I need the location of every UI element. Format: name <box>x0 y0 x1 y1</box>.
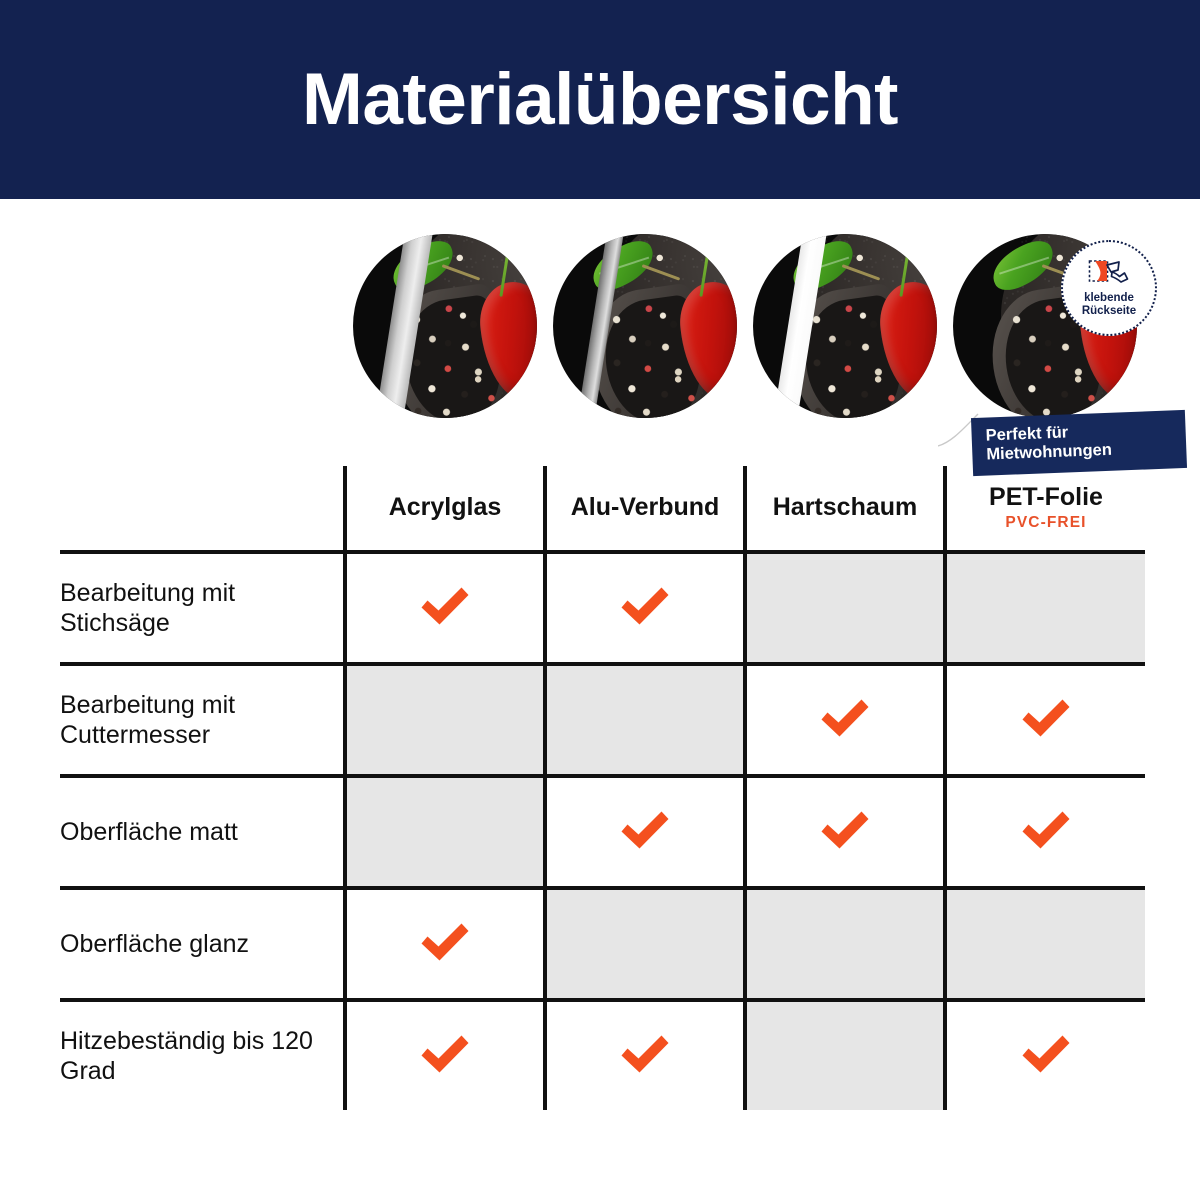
cell-r0-c2 <box>745 552 945 664</box>
cell-r1-c3 <box>945 664 1145 776</box>
cell-r4-c3 <box>945 1000 1145 1110</box>
cell-r4-c2 <box>745 1000 945 1110</box>
product-image-hartschaum[interactable] <box>745 234 945 434</box>
cell-r2-c2 <box>745 776 945 888</box>
column-header-hartschaum: Hartschaum <box>745 466 945 552</box>
product-photo-circle <box>553 234 737 418</box>
check-icon <box>1018 694 1074 742</box>
cell-r3-c1 <box>545 888 745 1000</box>
table-row: Oberfläche matt <box>60 776 1145 888</box>
product-image-acrylglas[interactable] <box>345 234 545 434</box>
adhesive-badge-line2: Rückseite <box>1082 305 1136 317</box>
row-label-oberflaeche-matt: Oberfläche matt <box>60 776 345 888</box>
check-icon <box>817 694 873 742</box>
column-header-label: PET-Folie <box>947 484 1145 512</box>
check-icon <box>1018 1030 1074 1078</box>
cell-r2-c0 <box>345 776 545 888</box>
material-comparison-table: Acrylglas Alu-Verbund Hartschaum PET-Fol… <box>60 466 1145 1093</box>
product-image-strip: klebende Rückseite <box>345 234 1145 434</box>
column-header-label: Alu-Verbund <box>547 494 743 522</box>
cell-r3-c2 <box>745 888 945 1000</box>
row-label-hitzebestaendig: Hitzebeständig bis 120 Grad <box>60 1000 345 1110</box>
product-image-alu-verbund[interactable] <box>545 234 745 434</box>
column-header-pet-folie: PET-Folie PVC-FREI <box>945 466 1145 552</box>
check-icon <box>617 1030 673 1078</box>
check-icon <box>417 582 473 630</box>
cell-r0-c3 <box>945 552 1145 664</box>
cell-r4-c1 <box>545 1000 745 1110</box>
check-icon <box>417 918 473 966</box>
column-header-alu-verbund: Alu-Verbund <box>545 466 745 552</box>
page-title: Materialübersicht <box>302 63 898 136</box>
column-header-acrylglas: Acrylglas <box>345 466 545 552</box>
cell-r1-c0 <box>345 664 545 776</box>
column-header-label: Hartschaum <box>747 494 943 522</box>
table-row: Bearbeitung mit Stichsäge <box>60 552 1145 664</box>
cell-r4-c0 <box>345 1000 545 1110</box>
header-banner: Materialübersicht <box>0 0 1200 199</box>
cell-r0-c0 <box>345 552 545 664</box>
cell-r1-c1 <box>545 664 745 776</box>
table-header-row: Acrylglas Alu-Verbund Hartschaum PET-Fol… <box>60 466 1145 552</box>
cell-r2-c1 <box>545 776 745 888</box>
table-row: Oberfläche glanz <box>60 888 1145 1000</box>
table-row: Bearbeitung mit Cuttermesser <box>60 664 1145 776</box>
row-label-cuttermesser: Bearbeitung mit Cuttermesser <box>60 664 345 776</box>
check-icon <box>1018 806 1074 854</box>
check-icon <box>617 806 673 854</box>
row-label-oberflaeche-glanz: Oberfläche glanz <box>60 888 345 1000</box>
check-icon <box>417 1030 473 1078</box>
peeling-sticker-icon <box>1088 259 1130 290</box>
cell-r3-c0 <box>345 888 545 1000</box>
product-image-pet-folie[interactable]: klebende Rückseite <box>945 234 1145 434</box>
cell-r0-c1 <box>545 552 745 664</box>
rental-ribbon: Perfekt für Mietwohnungen <box>971 410 1187 476</box>
pvc-free-badge: PVC-FREI <box>947 514 1145 532</box>
cell-r2-c3 <box>945 776 1145 888</box>
product-photo-circle <box>753 234 937 418</box>
table-row: Hitzebeständig bis 120 Grad <box>60 1000 1145 1110</box>
column-header-label: Acrylglas <box>347 494 543 522</box>
table-corner-cell <box>60 466 345 552</box>
check-icon <box>817 806 873 854</box>
product-photo-circle <box>353 234 537 418</box>
cell-r3-c3 <box>945 888 1145 1000</box>
check-icon <box>617 582 673 630</box>
cell-r1-c2 <box>745 664 945 776</box>
spice-photo <box>553 234 737 418</box>
adhesive-backing-badge: klebende Rückseite <box>1061 240 1157 336</box>
adhesive-badge-line1: klebende <box>1082 292 1136 304</box>
row-label-stichsaege: Bearbeitung mit Stichsäge <box>60 552 345 664</box>
